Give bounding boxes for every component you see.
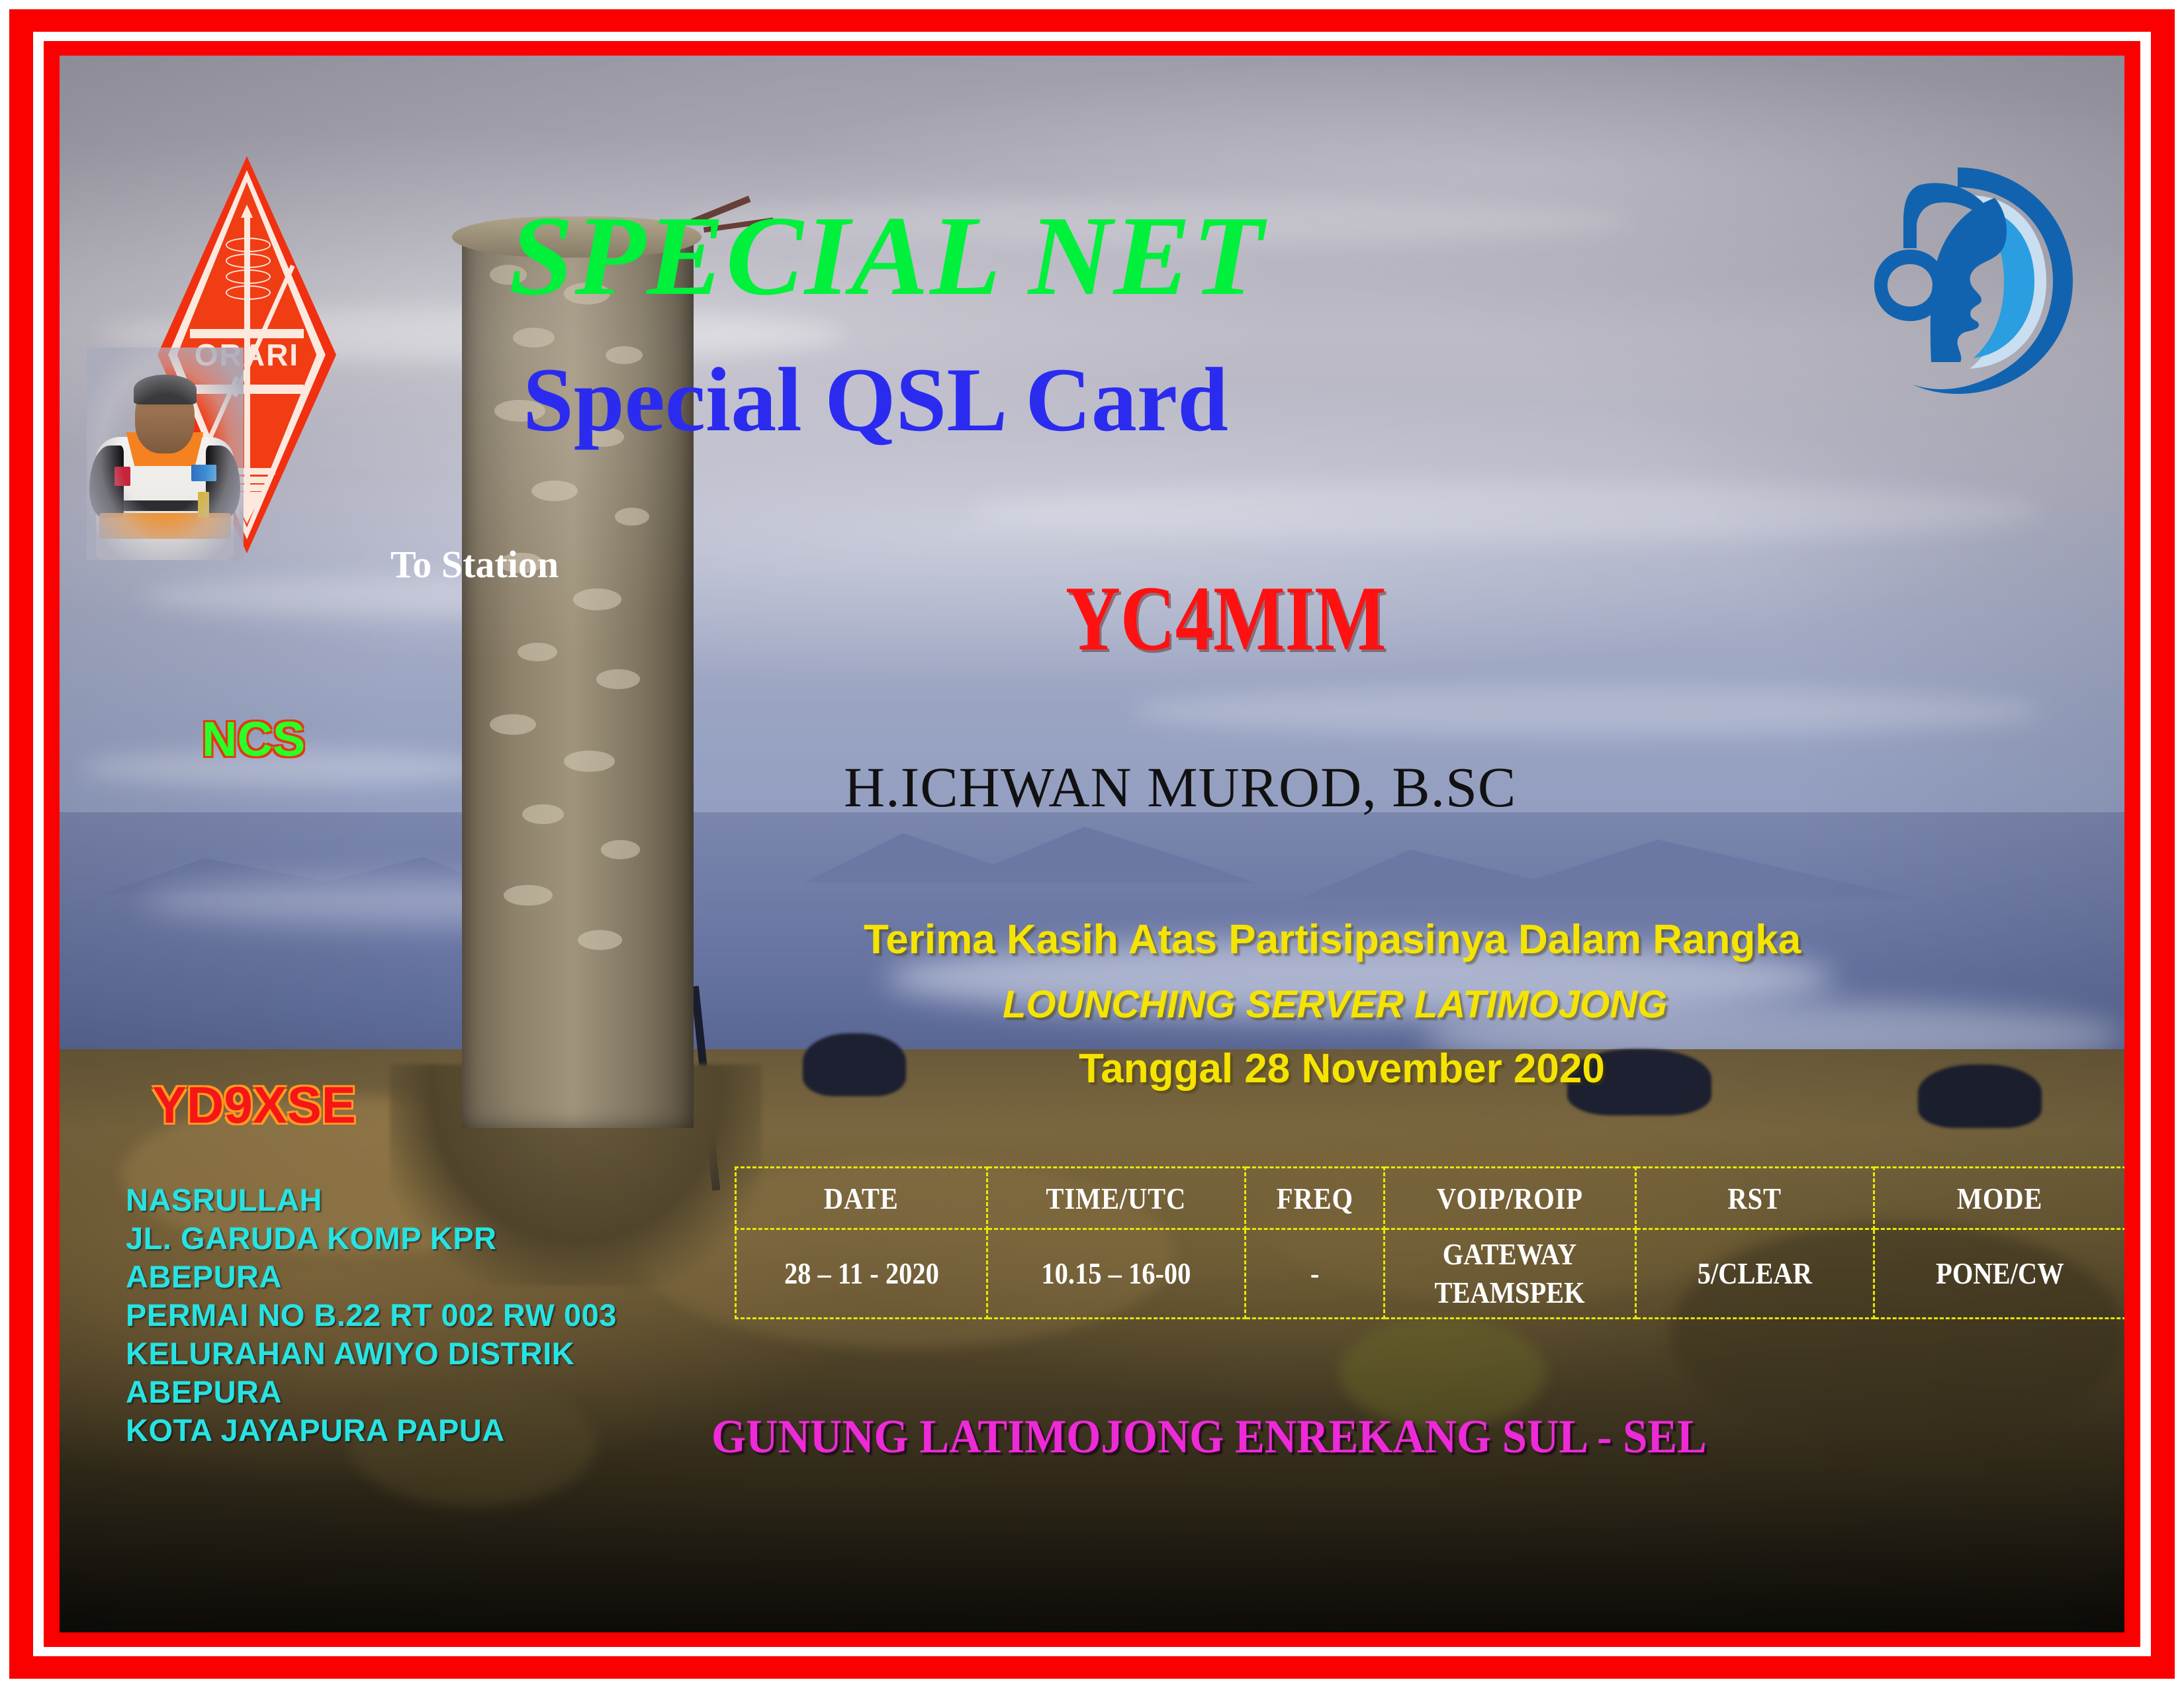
- address-line: PERMAI NO B.22 RT 002 RW 003: [126, 1296, 617, 1335]
- thanks-line-1: Terima Kasih Atas Partisipasinya Dalam R…: [864, 916, 1801, 963]
- address-line: KOTA JAYAPURA PAPUA: [126, 1411, 617, 1450]
- ncs-address-block: NASRULLAH JL. GARUDA KOMP KPR ABEPURA PE…: [126, 1181, 617, 1450]
- column-header-time: TIME/UTC: [987, 1168, 1246, 1229]
- ncs-callsign: YD9XSE: [152, 1075, 356, 1135]
- address-line: ABEPURA: [126, 1373, 617, 1411]
- column-header-date: DATE: [736, 1168, 987, 1229]
- operator-name: H.ICHWAN MUROD, B.SC: [844, 754, 1516, 820]
- column-header-voip: VOIP/ROIP: [1385, 1168, 1636, 1229]
- to-station-label: To Station: [390, 542, 559, 586]
- ncs-role-label: NCS: [202, 711, 305, 767]
- qsl-card: ORARI: [0, 0, 2184, 1688]
- ncs-operator-photo: [87, 348, 244, 561]
- cell-mode: PONE/CW: [1874, 1229, 2125, 1319]
- column-header-mode: MODE: [1874, 1168, 2125, 1229]
- thanks-line-3: Tanggal 28 November 2020: [1079, 1045, 1605, 1092]
- cell-date: 28 – 11 - 2020: [736, 1229, 987, 1319]
- event-location-label: GUNUNG LATIMOJONG ENREKANG SUL - SEL: [711, 1409, 1707, 1464]
- table-row: 28 – 11 - 2020 10.15 – 16-00 - GATEWAY T…: [736, 1229, 2125, 1319]
- column-header-freq: FREQ: [1246, 1168, 1385, 1229]
- thanks-line-2: LOUNCHING SERVER LATIMOJONG: [1003, 982, 1667, 1027]
- cell-voip: GATEWAY TEAMSPEK: [1385, 1229, 1636, 1319]
- address-line: JL. GARUDA KOMP KPR: [126, 1219, 617, 1258]
- page-title: SPECIAL NET: [509, 191, 1265, 322]
- cell-rst: 5/CLEAR: [1636, 1229, 1874, 1319]
- address-line: KELURAHAN AWIYO DISTRIK: [126, 1335, 617, 1373]
- address-line: NASRULLAH: [126, 1181, 617, 1219]
- web-address: Address : amatir.latimojong.com: [1334, 1630, 1982, 1632]
- background-photograph: ORARI: [60, 56, 2124, 1632]
- table-header-row: DATE TIME/UTC FREQ VOIP/ROIP RST MODE: [736, 1168, 2125, 1229]
- column-header-rst: RST: [1636, 1168, 1874, 1229]
- cell-time: 10.15 – 16-00: [987, 1229, 1246, 1319]
- cell-freq: -: [1246, 1229, 1385, 1319]
- qso-log-table: DATE TIME/UTC FREQ VOIP/ROIP RST MODE 28…: [735, 1166, 2124, 1319]
- address-line: ABEPURA: [126, 1258, 617, 1296]
- page-subtitle: Special QSL Card: [523, 347, 1228, 452]
- station-callsign: YC4MIM: [1066, 565, 1387, 672]
- headset-face-logo: [1846, 158, 2085, 403]
